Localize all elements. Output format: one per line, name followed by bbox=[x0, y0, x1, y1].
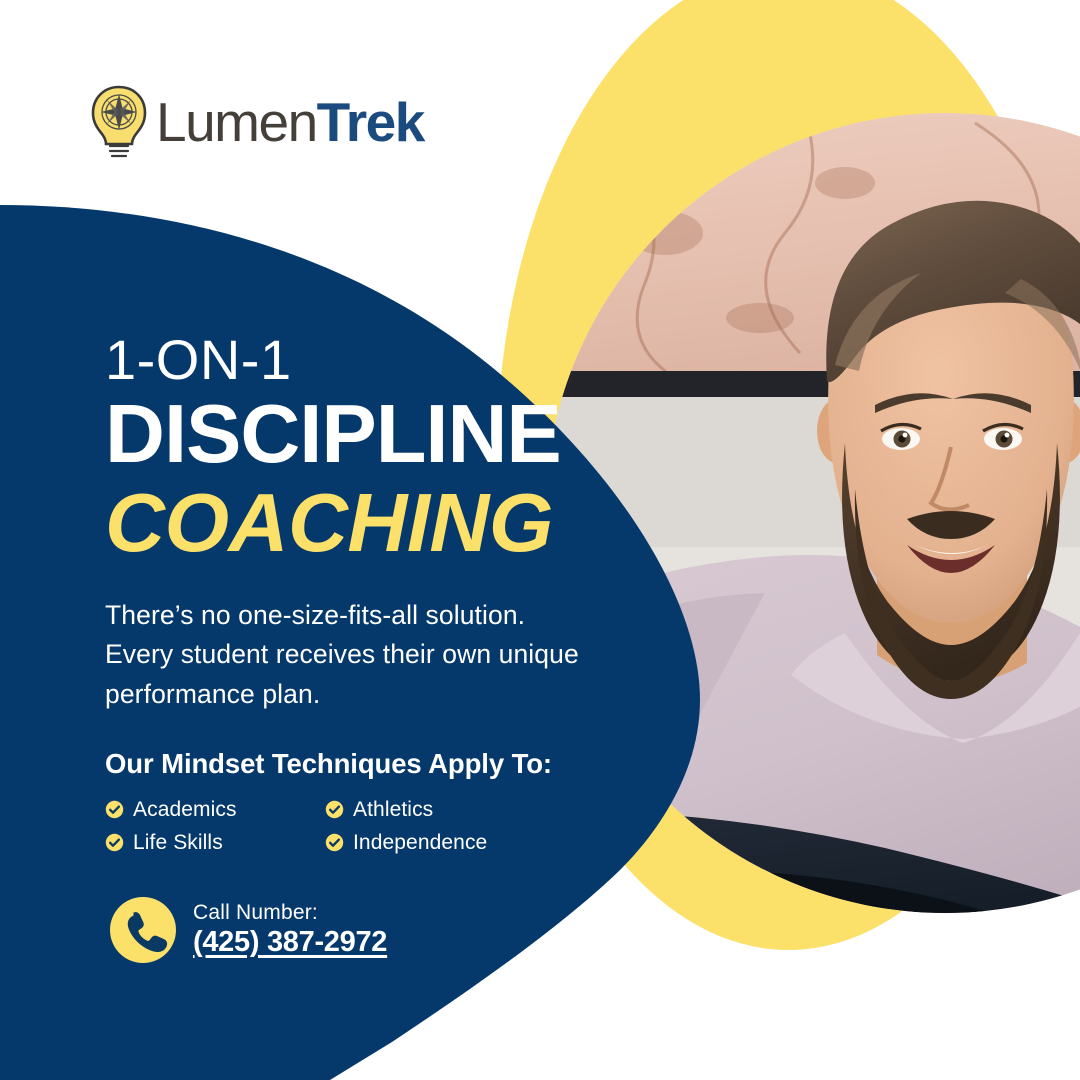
logo-text-lumen: Lumen bbox=[156, 91, 317, 153]
list-item: Athletics bbox=[325, 798, 685, 822]
check-circle-icon bbox=[325, 800, 344, 819]
list-item: Life Skills bbox=[105, 831, 325, 855]
hero-content: 1-ON-1 DISCIPLINE COACHING There’s no on… bbox=[105, 330, 685, 855]
phone-icon bbox=[110, 897, 176, 963]
phone-number[interactable]: (425) 387-2972 bbox=[193, 926, 387, 959]
hero-paragraph: There’s no one-size-fits-all solution. E… bbox=[105, 596, 685, 714]
list-item: Independence bbox=[325, 831, 685, 855]
hero-paragraph-line-2: Every student receives their own unique bbox=[105, 635, 685, 674]
list-item-label: Independence bbox=[353, 831, 487, 855]
poster-canvas: LumenTrek 1-ON-1 DISCIPLINE COACHING The… bbox=[0, 0, 1080, 1080]
contact-label: Call Number: bbox=[193, 901, 387, 925]
brand-logo[interactable]: LumenTrek bbox=[88, 84, 424, 160]
list-item-label: Academics bbox=[133, 798, 237, 822]
hero-headline-accent: COACHING bbox=[105, 479, 685, 566]
hero-paragraph-line-1: There’s no one-size-fits-all solution. bbox=[105, 596, 685, 635]
benefits-subhead: Our Mindset Techniques Apply To: bbox=[105, 748, 685, 780]
list-item-label: Athletics bbox=[353, 798, 433, 822]
check-circle-icon bbox=[325, 833, 344, 852]
hero-paragraph-line-3: performance plan. bbox=[105, 675, 685, 714]
list-item-label: Life Skills bbox=[133, 831, 223, 855]
logo-text-trek: Trek bbox=[317, 91, 424, 153]
list-item: Academics bbox=[105, 798, 325, 822]
contact-block[interactable]: Call Number: (425) 387-2972 bbox=[110, 897, 387, 963]
check-circle-icon bbox=[105, 833, 124, 852]
hero-eyebrow: 1-ON-1 bbox=[105, 330, 685, 390]
lightbulb-compass-icon bbox=[88, 84, 150, 160]
hero-headline: DISCIPLINE bbox=[105, 392, 685, 477]
check-circle-icon bbox=[105, 800, 124, 819]
benefits-list: Academics Athletics Li bbox=[105, 798, 685, 855]
